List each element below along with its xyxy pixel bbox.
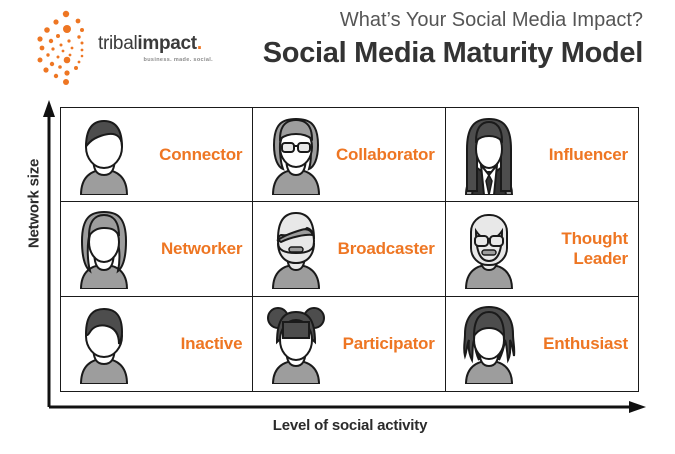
avatar-double-bun-girl-icon bbox=[259, 302, 333, 386]
logo-word-bold: impact bbox=[137, 33, 196, 54]
avatar-glasses-beard-man-icon bbox=[452, 207, 526, 291]
matrix-cell-enthusiast[interactable]: Enthusiast bbox=[446, 297, 638, 391]
header: tribalimpact. business. made. social. Wh… bbox=[0, 0, 675, 96]
avatar-short-dark-hair-man-icon bbox=[67, 113, 141, 197]
matrix-cell-label: Inactive bbox=[141, 334, 244, 354]
title-block: What’s Your Social Media Impact? Social … bbox=[263, 8, 643, 71]
matrix-cell-networker[interactable]: Networker bbox=[61, 202, 253, 296]
avatar-bearded-man-icon bbox=[259, 207, 333, 291]
matrix-cell-label: Enthusiast bbox=[526, 334, 630, 354]
subtitle: What’s Your Social Media Impact? bbox=[263, 8, 643, 33]
matrix-cell-collaborator[interactable]: Collaborator bbox=[253, 108, 445, 202]
matrix-cell-connector[interactable]: Connector bbox=[61, 108, 253, 202]
avatar-shaggy-hair-icon bbox=[452, 302, 526, 386]
y-axis-label: Network size bbox=[26, 124, 43, 284]
logo-word-light: tribal bbox=[98, 33, 137, 54]
matrix-cell-broadcaster[interactable]: Broadcaster bbox=[253, 202, 445, 296]
matrix-cell-label: Networker bbox=[141, 239, 244, 259]
page-title: Social Media Maturity Model bbox=[263, 35, 643, 71]
matrix-cell-label: Collaborator bbox=[333, 145, 436, 165]
maturity-matrix-grid: Connector Collaborator bbox=[60, 107, 639, 392]
avatar-long-gray-hair-woman-icon bbox=[67, 207, 141, 291]
matrix-cell-label: Thought Leader bbox=[526, 229, 630, 268]
x-axis-arrowhead bbox=[629, 401, 646, 413]
matrix-cell-influencer[interactable]: Influencer bbox=[446, 108, 638, 202]
matrix-cell-participator[interactable]: Participator bbox=[253, 297, 445, 391]
logo-word-dot: . bbox=[197, 33, 202, 54]
matrix-cell-label: Participator bbox=[333, 334, 436, 354]
matrix-cell-inactive[interactable]: Inactive bbox=[61, 297, 253, 391]
y-axis-arrowhead bbox=[43, 100, 55, 117]
x-axis-label: Level of social activity bbox=[60, 417, 640, 434]
avatar-swept-hair-man-icon bbox=[67, 302, 141, 386]
logo-dot-cluster-icon bbox=[36, 10, 98, 86]
matrix-cell-label: Influencer bbox=[526, 145, 630, 165]
matrix-cell-label: Broadcaster bbox=[333, 239, 436, 259]
logo-wordmark: tribalimpact. business. made. social. bbox=[98, 34, 216, 63]
logo-word: tribalimpact. bbox=[98, 34, 216, 53]
avatar-long-dark-hair-suit-woman-icon bbox=[452, 113, 526, 197]
tribal-impact-logo: tribalimpact. business. made. social. bbox=[36, 10, 216, 86]
matrix-cell-label: Connector bbox=[141, 145, 244, 165]
avatar-bob-hair-glasses-woman-icon bbox=[259, 113, 333, 197]
matrix-cell-thought-leader[interactable]: Thought Leader bbox=[446, 202, 638, 296]
logo-tagline: business. made. social. bbox=[98, 57, 216, 63]
